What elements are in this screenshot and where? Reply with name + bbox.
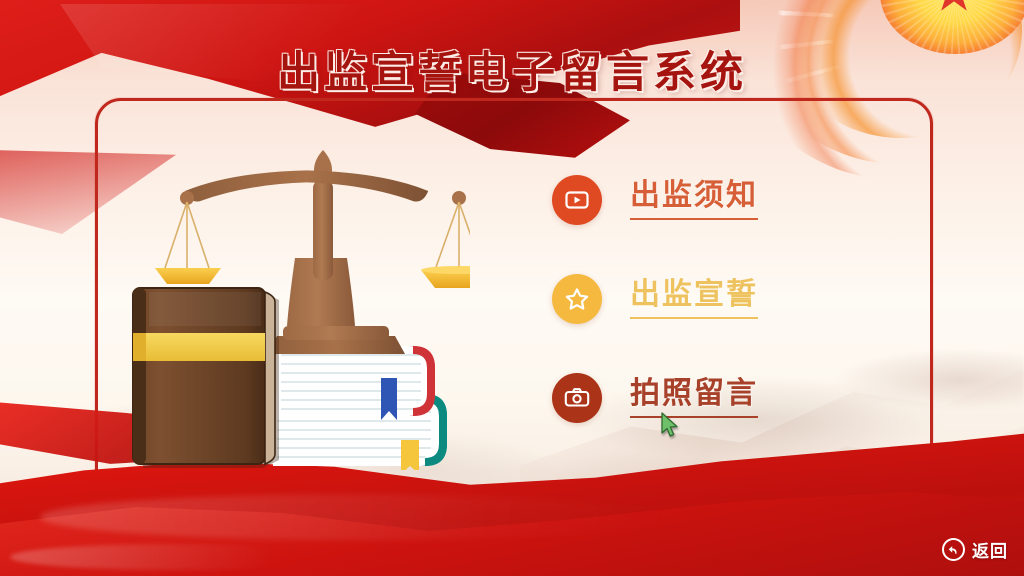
menu-item-label[interactable]: 出监宣誓 (630, 279, 758, 320)
menu-item-oath[interactable]: 出监宣誓 (552, 271, 882, 327)
red-silk-ribbon-bottom-highlight-lower (10, 544, 340, 570)
page-title: 出监宣誓电子留言系统 (0, 38, 1024, 100)
back-arrow-icon[interactable] (942, 538, 965, 561)
mouse-pointer-icon (660, 412, 680, 438)
main-menu: 出监须知 出监宣誓 拍照留言 (552, 172, 882, 426)
star-icon[interactable] (552, 274, 602, 324)
back-button-label[interactable]: 返回 (972, 537, 1008, 562)
book-red (277, 346, 435, 420)
video-play-icon[interactable] (552, 175, 602, 225)
scales-of-justice-and-books-icon (125, 140, 470, 470)
red-silk-ribbon-bottom-highlight (40, 494, 680, 540)
app-screen: 出监宣誓电子留言系统 (0, 0, 1024, 576)
menu-item-notice[interactable]: 出监须知 (552, 172, 882, 228)
menu-item-photo-message[interactable]: 拍照留言 (552, 370, 882, 426)
law-book (133, 288, 279, 468)
camera-icon[interactable] (552, 373, 602, 423)
menu-item-label[interactable]: 出监须知 (630, 180, 758, 221)
back-button[interactable]: 返回 (942, 537, 1008, 562)
menu-item-label[interactable]: 拍照留言 (630, 378, 758, 419)
